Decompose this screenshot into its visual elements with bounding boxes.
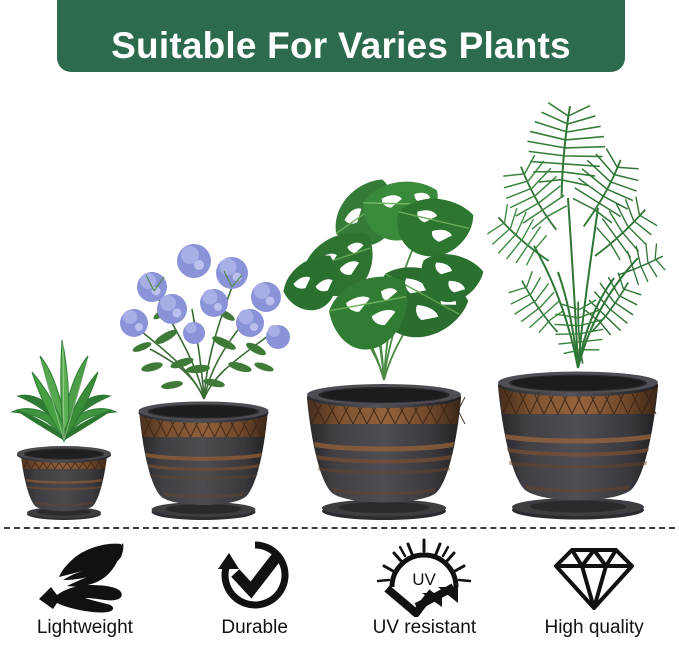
plant-purple-flowering-plant (106, 217, 302, 402)
flowering-plant-svg (106, 217, 302, 402)
pot-group-xlarge (478, 100, 678, 520)
feature-label-high-quality: High quality (544, 618, 643, 637)
uv-sun-shield-icon: UV (372, 538, 476, 616)
planter-pot-large (285, 366, 483, 520)
product-scene (0, 80, 679, 520)
hand-feather-icon (35, 538, 135, 616)
pot-medium-svg (120, 386, 287, 520)
pot-large-svg (285, 366, 483, 520)
feature-uv-resistant: UV UV resistant (340, 538, 510, 655)
check-circle-arrow-icon (215, 538, 295, 616)
feature-label-lightweight: Lightweight (37, 618, 133, 637)
feature-label-durable: Durable (221, 618, 288, 637)
plant-monstera-plant (274, 167, 494, 382)
feature-row: Lightweight Durable (0, 538, 679, 655)
feature-label-uv-resistant: UV resistant (373, 618, 476, 637)
uv-icon-text: UV (413, 570, 437, 589)
feature-durable: Durable (170, 538, 340, 655)
diamond-icon (552, 538, 636, 616)
pot-group-large (285, 165, 483, 520)
plant-areca-palm-plant (472, 88, 679, 370)
feature-high-quality: High quality (509, 538, 679, 655)
section-divider (4, 527, 675, 529)
check-circle-arrow-icon-svg (215, 539, 295, 615)
monstera-plant-svg (274, 167, 494, 382)
diamond-icon-svg (552, 542, 636, 612)
planter-pot-xlarge (478, 352, 678, 520)
pot-small-svg (5, 434, 123, 520)
pot-xlarge-svg (478, 352, 678, 520)
product-feature-image: Suitable For Varies Plants (0, 0, 679, 655)
planter-pot-medium (120, 386, 287, 520)
palm-plant-svg (472, 88, 679, 370)
headline-banner: Suitable For Varies Plants (57, 0, 625, 72)
headline-text: Suitable For Varies Plants (111, 27, 571, 64)
uv-sun-shield-icon-svg: UV (372, 537, 476, 617)
pot-group-medium (120, 220, 287, 520)
hand-feather-icon-svg (35, 539, 135, 615)
feature-lightweight: Lightweight (0, 538, 170, 655)
planter-pot-small (5, 434, 123, 520)
